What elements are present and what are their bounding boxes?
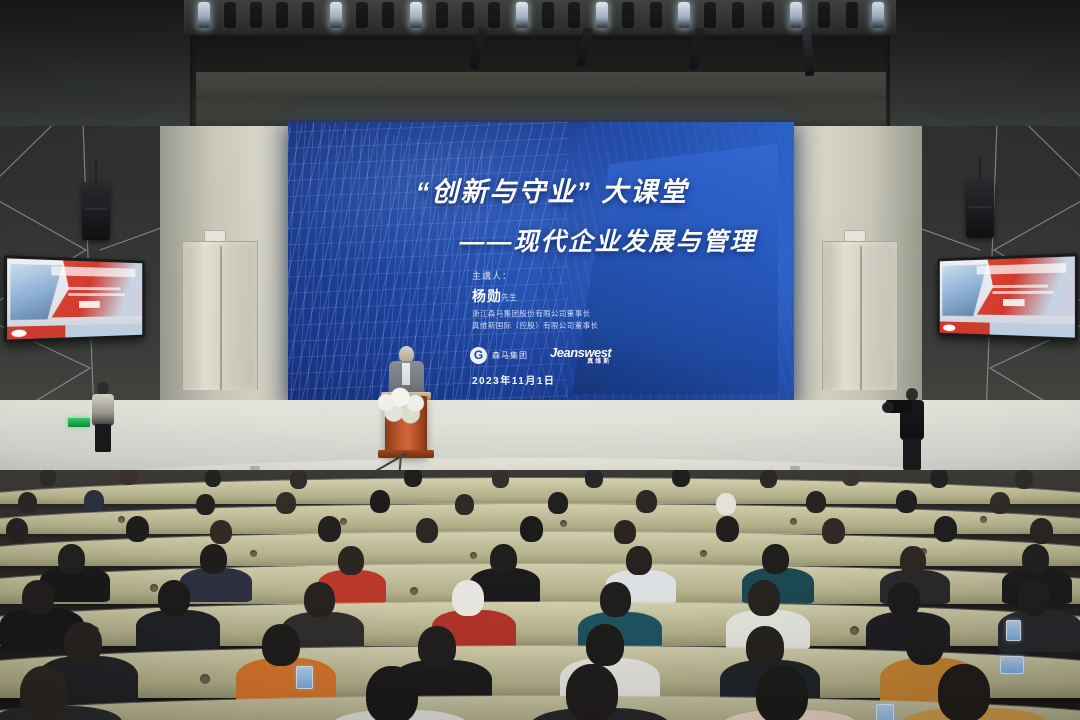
- audience-head: [822, 518, 845, 544]
- stage-light-icon: [330, 2, 342, 28]
- stage-light-icon: [704, 2, 716, 28]
- audience-head: [586, 624, 624, 666]
- stage-light-icon: [846, 2, 858, 28]
- audience-head: [636, 490, 657, 513]
- slide-subheadline: ——现代企业发展与管理: [438, 222, 778, 258]
- audience-head: [1030, 518, 1053, 544]
- stage-light-icon: [436, 2, 448, 28]
- monitor-footer-bar: [7, 323, 142, 339]
- monitor-badge-icon: [943, 324, 955, 331]
- audience-head: [262, 624, 300, 666]
- monitor-title-bar: [51, 266, 135, 277]
- jeanswest-wordmark: Jeanswest: [550, 346, 611, 359]
- audience-head: [455, 494, 474, 515]
- stage-light-icon: [462, 2, 474, 28]
- stage-light-icon: [224, 2, 236, 28]
- right-line-array-speaker: [966, 180, 994, 238]
- stage-light-icon: [568, 2, 580, 28]
- audience-head: [452, 580, 484, 616]
- right-confidence-monitor: [937, 253, 1078, 341]
- stage-light-icon: [410, 2, 422, 28]
- semir-group-logo: G 森马集团: [470, 347, 528, 364]
- audience-head: [490, 544, 517, 574]
- usher-torso: [92, 394, 114, 426]
- semir-mark-icon: G: [470, 347, 487, 364]
- audience-head: [672, 470, 690, 487]
- audience-head: [416, 518, 438, 543]
- hanging-light-icon: [802, 28, 814, 77]
- audience-head: [84, 490, 104, 512]
- slide-date: 2023年11月1日: [472, 372, 555, 387]
- audience-head: [756, 666, 808, 720]
- stage-light-icon: [302, 2, 314, 28]
- stage-light-icon: [276, 2, 288, 28]
- audience-head: [746, 626, 784, 668]
- audience-head: [304, 582, 335, 617]
- monitor-name-bar: [79, 300, 100, 307]
- slide-host-label: 主講人：: [472, 269, 512, 282]
- audience-head: [896, 490, 917, 513]
- usher-legs: [95, 424, 111, 452]
- audience-head: [934, 516, 957, 542]
- audience-head: [520, 516, 543, 542]
- audience-head: [762, 544, 789, 574]
- slide-host-role-1: 浙江森马集团股份有限公司董事长: [472, 308, 591, 319]
- audience-head: [906, 622, 944, 665]
- audience-head: [600, 582, 631, 617]
- audience-head: [205, 470, 221, 487]
- stage-light-icon: [250, 2, 262, 28]
- audience-head: [196, 494, 215, 515]
- stage-light-icon: [622, 2, 634, 28]
- videographer-legs: [903, 438, 921, 470]
- audience-head: [366, 666, 418, 720]
- stage-light-icon: [596, 2, 608, 28]
- audience-head: [418, 626, 456, 668]
- audience-head: [492, 470, 509, 488]
- audience-head: [1018, 580, 1050, 616]
- audience-head: [58, 544, 85, 574]
- audience-head: [566, 664, 618, 720]
- stage-light-icon: [356, 2, 368, 28]
- audience-head: [900, 546, 926, 575]
- stage-light-icon: [516, 2, 528, 28]
- stage-right-surround: [792, 126, 922, 426]
- audience-head: [64, 622, 102, 664]
- seat-row: [0, 478, 1080, 504]
- audience-head: [120, 470, 137, 485]
- main-led-screen: “创新与守业” 大课堂 ——现代企业发展与管理 主講人： 杨勋 先生 浙江森马集…: [288, 122, 794, 400]
- jeanswest-logo: Jeanswest 真维斯: [550, 346, 611, 365]
- monitor-title-bar: [977, 263, 1066, 274]
- stage-light-icon: [732, 2, 744, 28]
- stage-light-icon: [762, 2, 774, 28]
- attendee-phone-icon: [296, 666, 313, 689]
- audience-head: [938, 664, 990, 720]
- audience-head: [806, 491, 826, 513]
- audience-head: [290, 470, 307, 489]
- lighting-truss: [184, 0, 896, 36]
- attendee-tablet-icon: [1000, 656, 1024, 674]
- stage-light-icon: [488, 2, 500, 28]
- left-confidence-monitor: [4, 255, 145, 343]
- audience-head: [200, 544, 227, 574]
- audience-head: [626, 546, 652, 575]
- audience-head: [40, 470, 56, 486]
- stage-left-surround: [160, 126, 290, 426]
- auditorium-photo: “创新与守业” 大课堂 ——现代企业发展与管理 主講人： 杨勋 先生 浙江森马集…: [0, 0, 1080, 720]
- presenter-shirt: [402, 363, 410, 385]
- exit-sign-icon: [68, 418, 90, 427]
- slide-host-role-2: 真维斯国际（控股）有限公司董事长: [472, 320, 598, 331]
- stage-light-icon: [650, 2, 662, 28]
- slide-headline: “创新与守业” 大课堂: [372, 170, 732, 209]
- stage-light-icon: [382, 2, 394, 28]
- stage-light-icon: [542, 2, 554, 28]
- attendee-phone-icon: [876, 704, 894, 720]
- stage-light-icon: [678, 2, 690, 28]
- audience-head: [1015, 470, 1033, 489]
- proscenium-upper-band: [196, 72, 886, 98]
- audience-head: [318, 516, 341, 542]
- audience-head: [760, 470, 777, 488]
- audience-head: [548, 492, 568, 514]
- slide-host-honorific: 先生: [501, 292, 517, 303]
- audience-head: [126, 516, 149, 542]
- stage-left-door[interactable]: [182, 241, 258, 390]
- monitor-footer-bar: [940, 321, 1075, 337]
- slide-host-name: 杨勋: [472, 286, 502, 306]
- audience-head: [370, 490, 390, 513]
- audience-head: [716, 493, 736, 515]
- stage-light-icon: [872, 2, 884, 28]
- audience-head: [842, 470, 860, 486]
- audience-head: [22, 580, 54, 615]
- floral-arrangement: [372, 384, 436, 428]
- monitor-name-bar: [1003, 299, 1025, 306]
- camera-lens-icon: [882, 402, 893, 413]
- audience-head: [158, 580, 190, 616]
- audience-seating: [0, 470, 1080, 720]
- stage-right-door[interactable]: [822, 241, 898, 390]
- stage-light-icon: [790, 2, 802, 28]
- audience-head: [930, 470, 948, 488]
- audience-head: [18, 492, 37, 513]
- audience-head: [1022, 544, 1049, 574]
- audience-head: [404, 470, 422, 487]
- left-line-array-speaker: [82, 182, 110, 240]
- audience-head: [338, 546, 364, 575]
- audience-head: [748, 580, 780, 616]
- slide-logo-row: G 森马集团 Jeanswest 真维斯: [470, 346, 611, 365]
- audience-head: [210, 520, 232, 544]
- semir-name: 森马集团: [492, 351, 528, 361]
- attendee-phone-icon: [1006, 620, 1021, 641]
- audience-head: [20, 666, 68, 720]
- audience-head: [276, 492, 296, 514]
- stage-light-icon: [198, 2, 210, 28]
- audience-head: [888, 582, 920, 617]
- audience-head: [716, 516, 739, 542]
- audience-head: [6, 518, 28, 543]
- stage-light-icon: [818, 2, 830, 28]
- audience-head: [990, 492, 1010, 514]
- audience-head: [585, 470, 603, 488]
- audience-shoulders: [136, 610, 220, 650]
- audience-head: [614, 520, 636, 544]
